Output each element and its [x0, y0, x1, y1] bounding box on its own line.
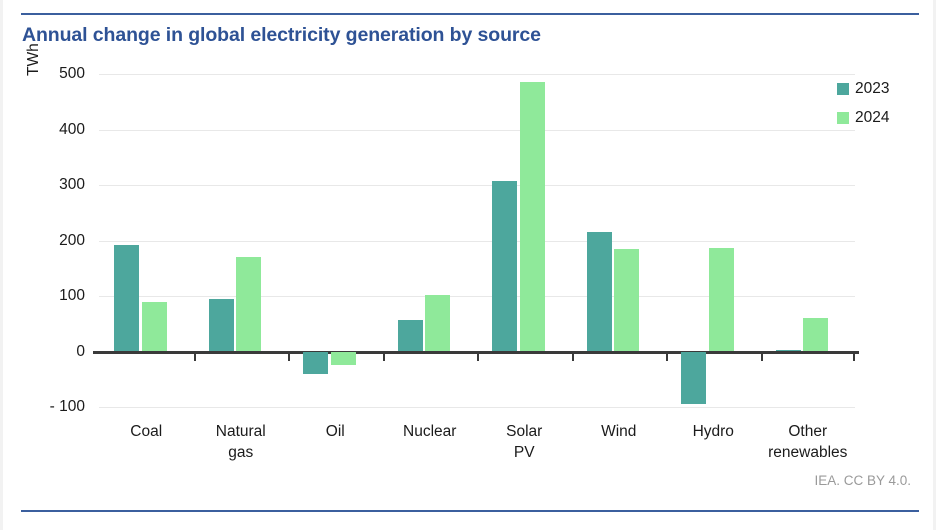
x-axis-tick — [666, 352, 668, 361]
x-axis-tick — [383, 352, 385, 361]
x-axis-tick — [477, 352, 479, 361]
legend-label: 2024 — [855, 109, 889, 127]
legend-swatch-icon — [837, 112, 849, 124]
x-axis-category-label: SolarPV — [477, 421, 572, 463]
gridline — [99, 407, 855, 408]
bar-group: SolarPV — [477, 74, 572, 407]
x-axis-category-line: Oil — [288, 421, 383, 442]
legend-swatch-icon — [837, 83, 849, 95]
x-axis-tick — [288, 352, 290, 361]
legend: 20232024 — [837, 74, 915, 132]
x-axis-category-label: Oil — [288, 421, 383, 442]
x-axis-category-line: Natural — [194, 421, 289, 442]
bar-2023-coal[interactable] — [114, 245, 139, 352]
bar-2024-other-renewables[interactable] — [803, 318, 828, 352]
bar-2023-solar-pv[interactable] — [492, 181, 517, 351]
y-axis-tick-label: - 100 — [50, 398, 85, 416]
x-axis-category-line: Other — [761, 421, 856, 442]
bar-2023-natural-gas[interactable] — [209, 299, 234, 352]
bar-2024-coal[interactable] — [142, 302, 167, 352]
bar-2023-hydro[interactable] — [681, 352, 706, 404]
x-axis-category-label: Nuclear — [383, 421, 478, 442]
bar-2024-solar-pv[interactable] — [520, 82, 545, 351]
legend-item-2023[interactable]: 2023 — [837, 74, 915, 103]
y-axis-tick-label: 500 — [59, 65, 85, 83]
bar-2024-oil[interactable] — [331, 352, 356, 365]
bar-2023-other-renewables[interactable] — [776, 350, 801, 351]
x-axis-tick — [572, 352, 574, 361]
x-axis-category-line: PV — [477, 442, 572, 463]
bar-2024-wind[interactable] — [614, 249, 639, 351]
bar-group: Naturalgas — [194, 74, 289, 407]
legend-label: 2023 — [855, 80, 889, 98]
y-axis-tick-label: 400 — [59, 121, 85, 139]
bottom-rule — [21, 510, 919, 512]
credit-text: IEA. CC BY 4.0. — [814, 473, 911, 488]
top-rule — [21, 13, 919, 15]
x-axis-category-line: gas — [194, 442, 289, 463]
bar-2023-wind[interactable] — [587, 232, 612, 351]
x-axis-tick — [853, 352, 855, 361]
bar-2023-oil[interactable] — [303, 352, 328, 374]
bar-2024-nuclear[interactable] — [425, 295, 450, 351]
bar-group: Wind — [572, 74, 667, 407]
x-axis-category-line: Solar — [477, 421, 572, 442]
x-axis-category-line: Nuclear — [383, 421, 478, 442]
bar-group: Coal — [99, 74, 194, 407]
chart-card: Annual change in global electricity gene… — [0, 0, 936, 530]
x-axis-category-label: Naturalgas — [194, 421, 289, 463]
x-axis-category-line: Coal — [99, 421, 194, 442]
bar-2024-natural-gas[interactable] — [236, 257, 261, 351]
y-axis-tick-label: 200 — [59, 232, 85, 250]
bar-bands: CoalNaturalgasOilNuclearSolarPVWindHydro… — [99, 74, 855, 407]
plot-area: 5004003002001000- 100 CoalNaturalgasOilN… — [99, 74, 855, 407]
bar-group: Oil — [288, 74, 383, 407]
y-axis-tick-label: 300 — [59, 176, 85, 194]
x-axis-category-label: Wind — [572, 421, 667, 442]
x-axis-category-line: Wind — [572, 421, 667, 442]
bar-group: Hydro — [666, 74, 761, 407]
legend-item-2024[interactable]: 2024 — [837, 103, 915, 132]
x-axis-tick — [194, 352, 196, 361]
x-axis-category-line: renewables — [761, 442, 856, 463]
x-axis-category-label: Hydro — [666, 421, 761, 442]
x-axis-category-label: Otherrenewables — [761, 421, 856, 463]
bar-group: Nuclear — [383, 74, 478, 407]
x-axis-tick — [761, 352, 763, 361]
page-title: Annual change in global electricity gene… — [22, 24, 541, 47]
y-axis-tick-label: 0 — [76, 343, 85, 361]
y-axis-title: TWh — [25, 43, 43, 76]
y-axis-tick-label: 100 — [59, 287, 85, 305]
x-axis-category-line: Hydro — [666, 421, 761, 442]
x-axis-category-label: Coal — [99, 421, 194, 442]
bar-2023-nuclear[interactable] — [398, 320, 423, 352]
bar-2024-hydro[interactable] — [709, 248, 734, 352]
